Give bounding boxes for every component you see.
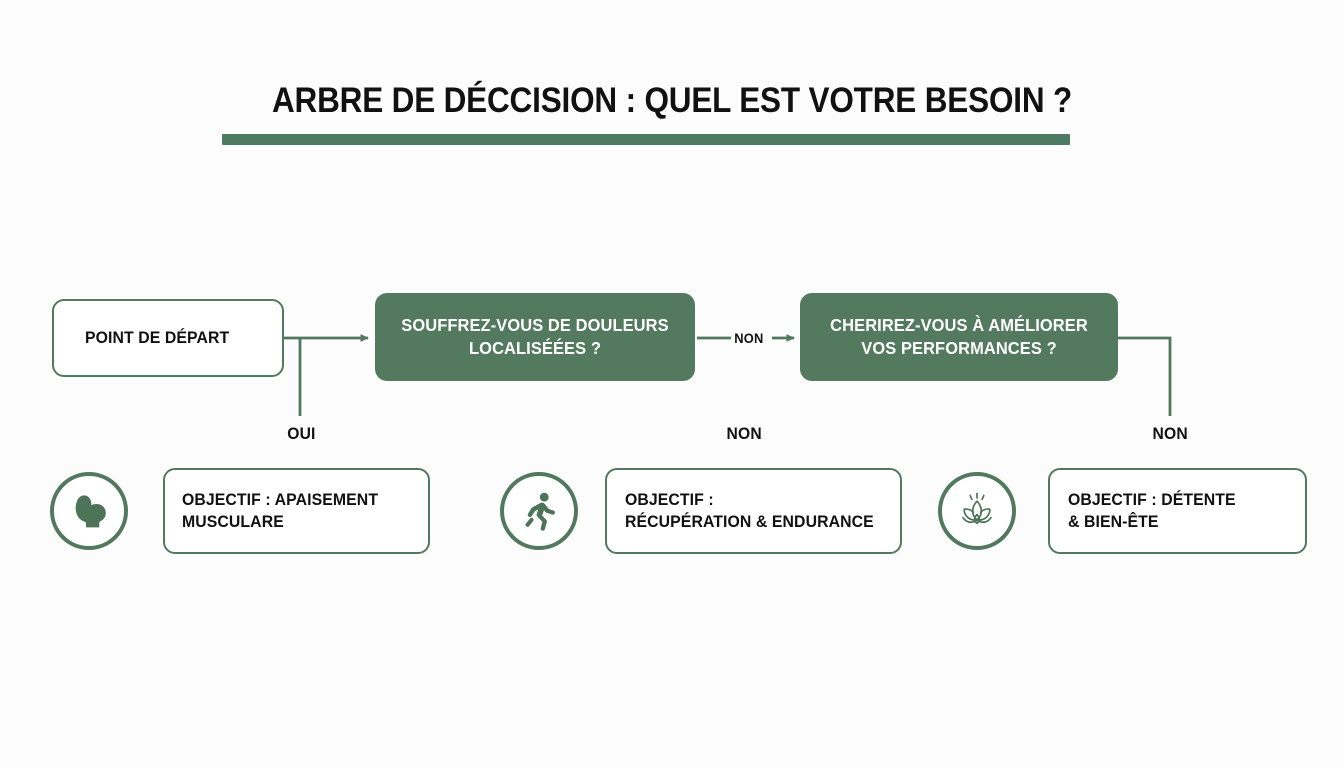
node-result-apaisement-musculaire-label: OBJECTIF : APAISEMENT MUSCULARE: [182, 489, 378, 533]
lotus-flower-icon-badge: [938, 472, 1016, 550]
node-question-performances[interactable]: CHERIREZ-VOUS À AMÉLIORER VOS PERFORMANC…: [800, 293, 1118, 381]
diagram-canvas: ARBRE DE DÉCCISION : QUEL EST VOTRE BESO…: [0, 0, 1344, 768]
title-underline-rule: [222, 134, 1070, 145]
edge-label-non-from-question-1: NON: [727, 424, 762, 444]
page-title-wrap: ARBRE DE DÉCCISION : QUEL EST VOTRE BESO…: [0, 82, 1344, 121]
running-person-icon: [516, 488, 562, 534]
node-result-detente-bien-etre-label: OBJECTIF : DÉTENTE & BIEN-ÊTE: [1068, 489, 1236, 533]
node-result-recuperation-endurance[interactable]: OBJECTIF : RÉCUPÉRATION & ENDURANCE: [605, 468, 902, 554]
edge-label-non-between-questions: NON: [734, 330, 763, 346]
node-start-label: POINT DE DÉPART: [85, 327, 229, 349]
node-result-recuperation-endurance-label: OBJECTIF : RÉCUPÉRATION & ENDURANCE: [625, 489, 874, 533]
node-question-performances-label: CHERIREZ-VOUS À AMÉLIORER VOS PERFORMANC…: [825, 314, 1094, 360]
flexed-bicep-icon: [66, 488, 112, 534]
lotus-flower-icon: [953, 487, 1001, 535]
edge-q2-to-non: [1118, 338, 1170, 416]
node-result-apaisement-musculaire[interactable]: OBJECTIF : APAISEMENT MUSCULARE: [163, 468, 430, 554]
node-start[interactable]: POINT DE DÉPART: [52, 299, 284, 377]
node-question-douleurs[interactable]: SOUFFREZ-VOUS DE DOULEURS LOCALISÉÉES ?: [375, 293, 695, 381]
running-person-icon-badge: [500, 472, 578, 550]
flexed-bicep-icon-badge: [50, 472, 128, 550]
node-question-douleurs-label: SOUFFREZ-VOUS DE DOULEURS LOCALISÉÉES ?: [400, 314, 671, 360]
page-title: ARBRE DE DÉCCISION : QUEL EST VOTRE BESO…: [67, 82, 1277, 121]
edge-label-non-from-question-2: NON: [1153, 424, 1188, 444]
edge-label-oui: OUI: [287, 424, 315, 444]
node-result-detente-bien-etre[interactable]: OBJECTIF : DÉTENTE & BIEN-ÊTE: [1048, 468, 1307, 554]
